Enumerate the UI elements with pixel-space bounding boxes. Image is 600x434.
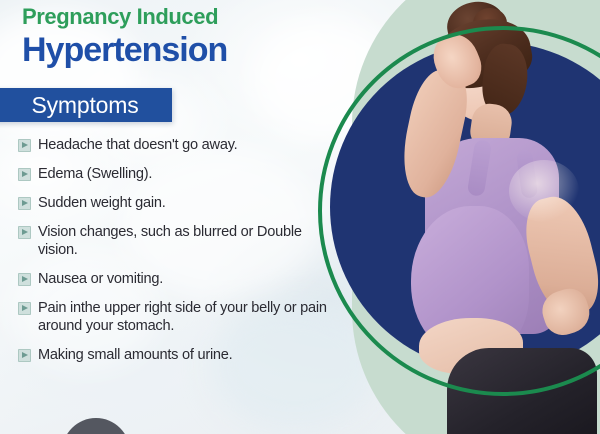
list-item: Making small amounts of urine. [18,346,344,364]
play-triangle-icon [18,349,31,362]
symptom-text: Making small amounts of urine. [38,346,232,364]
symptom-text: Sudden weight gain. [38,194,166,212]
list-item: Pain inthe upper right side of your bell… [18,299,344,335]
symptom-text: Edema (Swelling). [38,165,152,183]
play-triangle-icon [18,302,31,315]
play-triangle-icon [18,168,31,181]
title-main: Hypertension [22,31,342,69]
play-triangle-icon [18,197,31,210]
symptom-text: Vision changes, such as blurred or Doubl… [38,223,344,259]
symptoms-banner-label: Symptoms [19,92,138,119]
play-triangle-icon [18,273,31,286]
play-triangle-icon [18,139,31,152]
content-column: Pregnancy Induced Hypertension Symptoms … [0,0,352,434]
list-item: Nausea or vomiting. [18,270,344,288]
pregnancy-hypertension-infographic: Pregnancy Induced Hypertension Symptoms … [0,0,600,434]
symptoms-list: Headache that doesn't go away. Edema (Sw… [18,136,344,375]
symptom-text: Pain inthe upper right side of your bell… [38,299,344,335]
list-item: Sudden weight gain. [18,194,344,212]
page-title: Pregnancy Induced Hypertension [22,4,342,69]
symptom-text: Nausea or vomiting. [38,270,163,288]
symptom-text: Headache that doesn't go away. [38,136,237,154]
list-item: Vision changes, such as blurred or Doubl… [18,223,344,259]
symptoms-banner: Symptoms [0,88,172,122]
title-eyebrow: Pregnancy Induced [22,4,342,30]
list-item: Headache that doesn't go away. [18,136,344,154]
play-triangle-icon [18,226,31,239]
list-item: Edema (Swelling). [18,165,344,183]
